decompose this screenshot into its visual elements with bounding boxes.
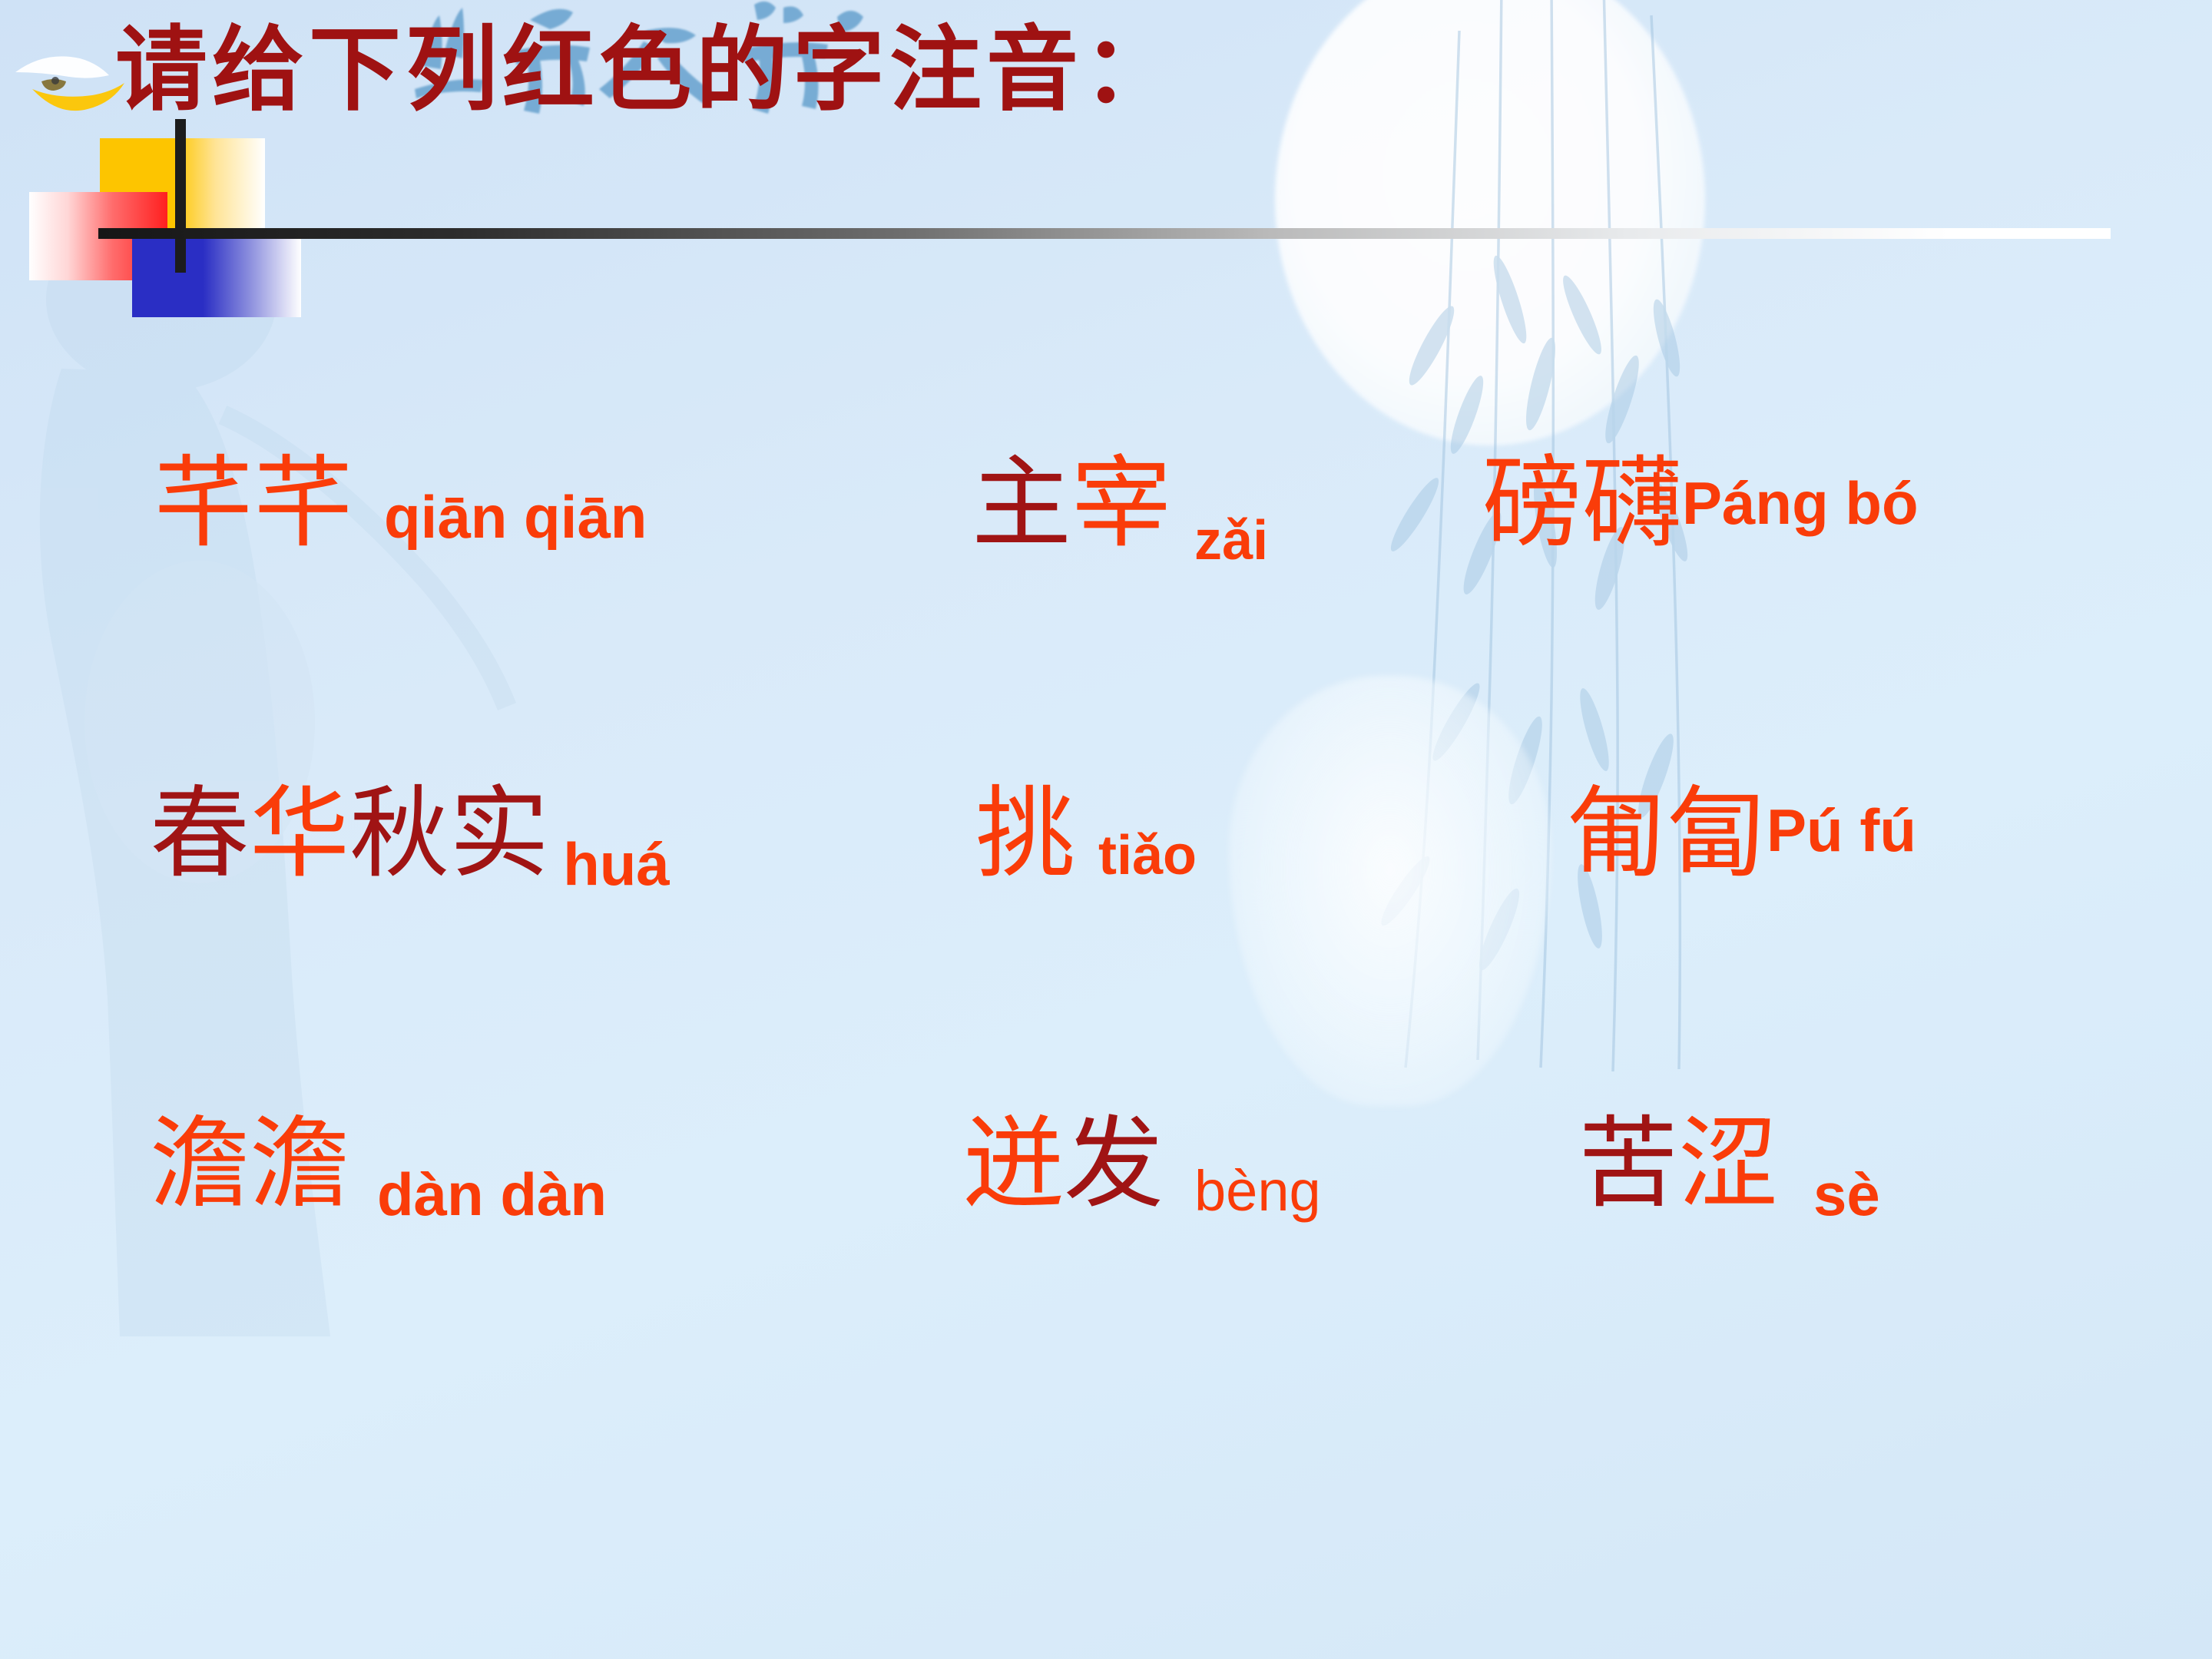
pinyin-label: sè (1778, 1161, 1880, 1228)
pinyin-label: qiān qiān (353, 483, 647, 551)
word-entry: 澹澹dàn dàn (150, 1114, 607, 1214)
hanzi-char: 苦 (1578, 1105, 1678, 1222)
pinyin-label: Pú fú (1767, 796, 1916, 864)
word-entry: 磅礴Páng bó (1482, 453, 1919, 553)
blue-gradient-block (132, 233, 301, 317)
word-row: 澹澹dàn dàn 迸发bèng 苦涩sè (0, 1114, 2212, 1444)
word-entry: 苦涩sè (1578, 1114, 1880, 1214)
word-list: 芊芊qiān qiān 主宰zǎi 磅礴Páng bó 春华秋实huá 挑tiǎ… (0, 453, 2212, 1444)
word-entry: 匍匐Pú fú (1567, 783, 1916, 883)
hanzi-char: 发 (1064, 1105, 1164, 1222)
hanzi-char: 匐 (1667, 775, 1767, 892)
word-row: 芊芊qiān qiān 主宰zǎi 磅礴Páng bó (0, 453, 2212, 783)
hanzi-char: 挑 (975, 775, 1075, 892)
word-entry: 春华秋实huá (150, 783, 670, 883)
hanzi-char: 磅 (1482, 445, 1582, 561)
word-row: 春华秋实huá 挑tiǎo 匍匐Pú fú (0, 783, 2212, 1114)
hanzi-char: 宰 (1071, 445, 1171, 561)
hanzi-char: 春 (150, 775, 250, 892)
hanzi-char: 匍 (1567, 775, 1667, 892)
pinyin-label: huá (549, 830, 670, 898)
word-entry: 芊芊qiān qiān (154, 453, 647, 553)
hanzi-char: 澹 (250, 1105, 349, 1222)
hanzi-char: 实 (449, 775, 549, 892)
word-entry: 迸发bèng (964, 1114, 1321, 1214)
pinyin-label: Páng bó (1682, 469, 1919, 537)
pinyin-label: dàn dàn (349, 1161, 607, 1228)
word-entry: 挑tiǎo (975, 783, 1197, 883)
page-title: 请给下列红色的字注音： (115, 22, 1180, 118)
hanzi-char: 主 (972, 445, 1071, 561)
pinyin-label: zǎi (1171, 510, 1268, 571)
horizontal-divider-line (98, 228, 2111, 239)
hanzi-char: 秋 (349, 775, 449, 892)
word-entry: 主宰zǎi (972, 453, 1268, 553)
hanzi-char: 芊 (253, 445, 353, 561)
pinyin-label: tiǎo (1075, 825, 1197, 886)
hanzi-char: 澹 (150, 1105, 250, 1222)
hanzi-char: 华 (250, 775, 349, 892)
vertical-black-bar (175, 119, 186, 273)
decorative-blocks-group (0, 119, 2151, 442)
hanzi-char: 礴 (1582, 445, 1682, 561)
hanzi-char: 迸 (964, 1105, 1064, 1222)
hanzi-char: 涩 (1678, 1105, 1778, 1222)
hanzi-char: 芊 (154, 445, 253, 561)
slide-canvas: 请给下列红色的字注音： 芊芊qiān qiān 主宰zǎi 磅礴Páng bó … (0, 0, 2212, 1659)
pinyin-label: bèng (1164, 1159, 1321, 1223)
